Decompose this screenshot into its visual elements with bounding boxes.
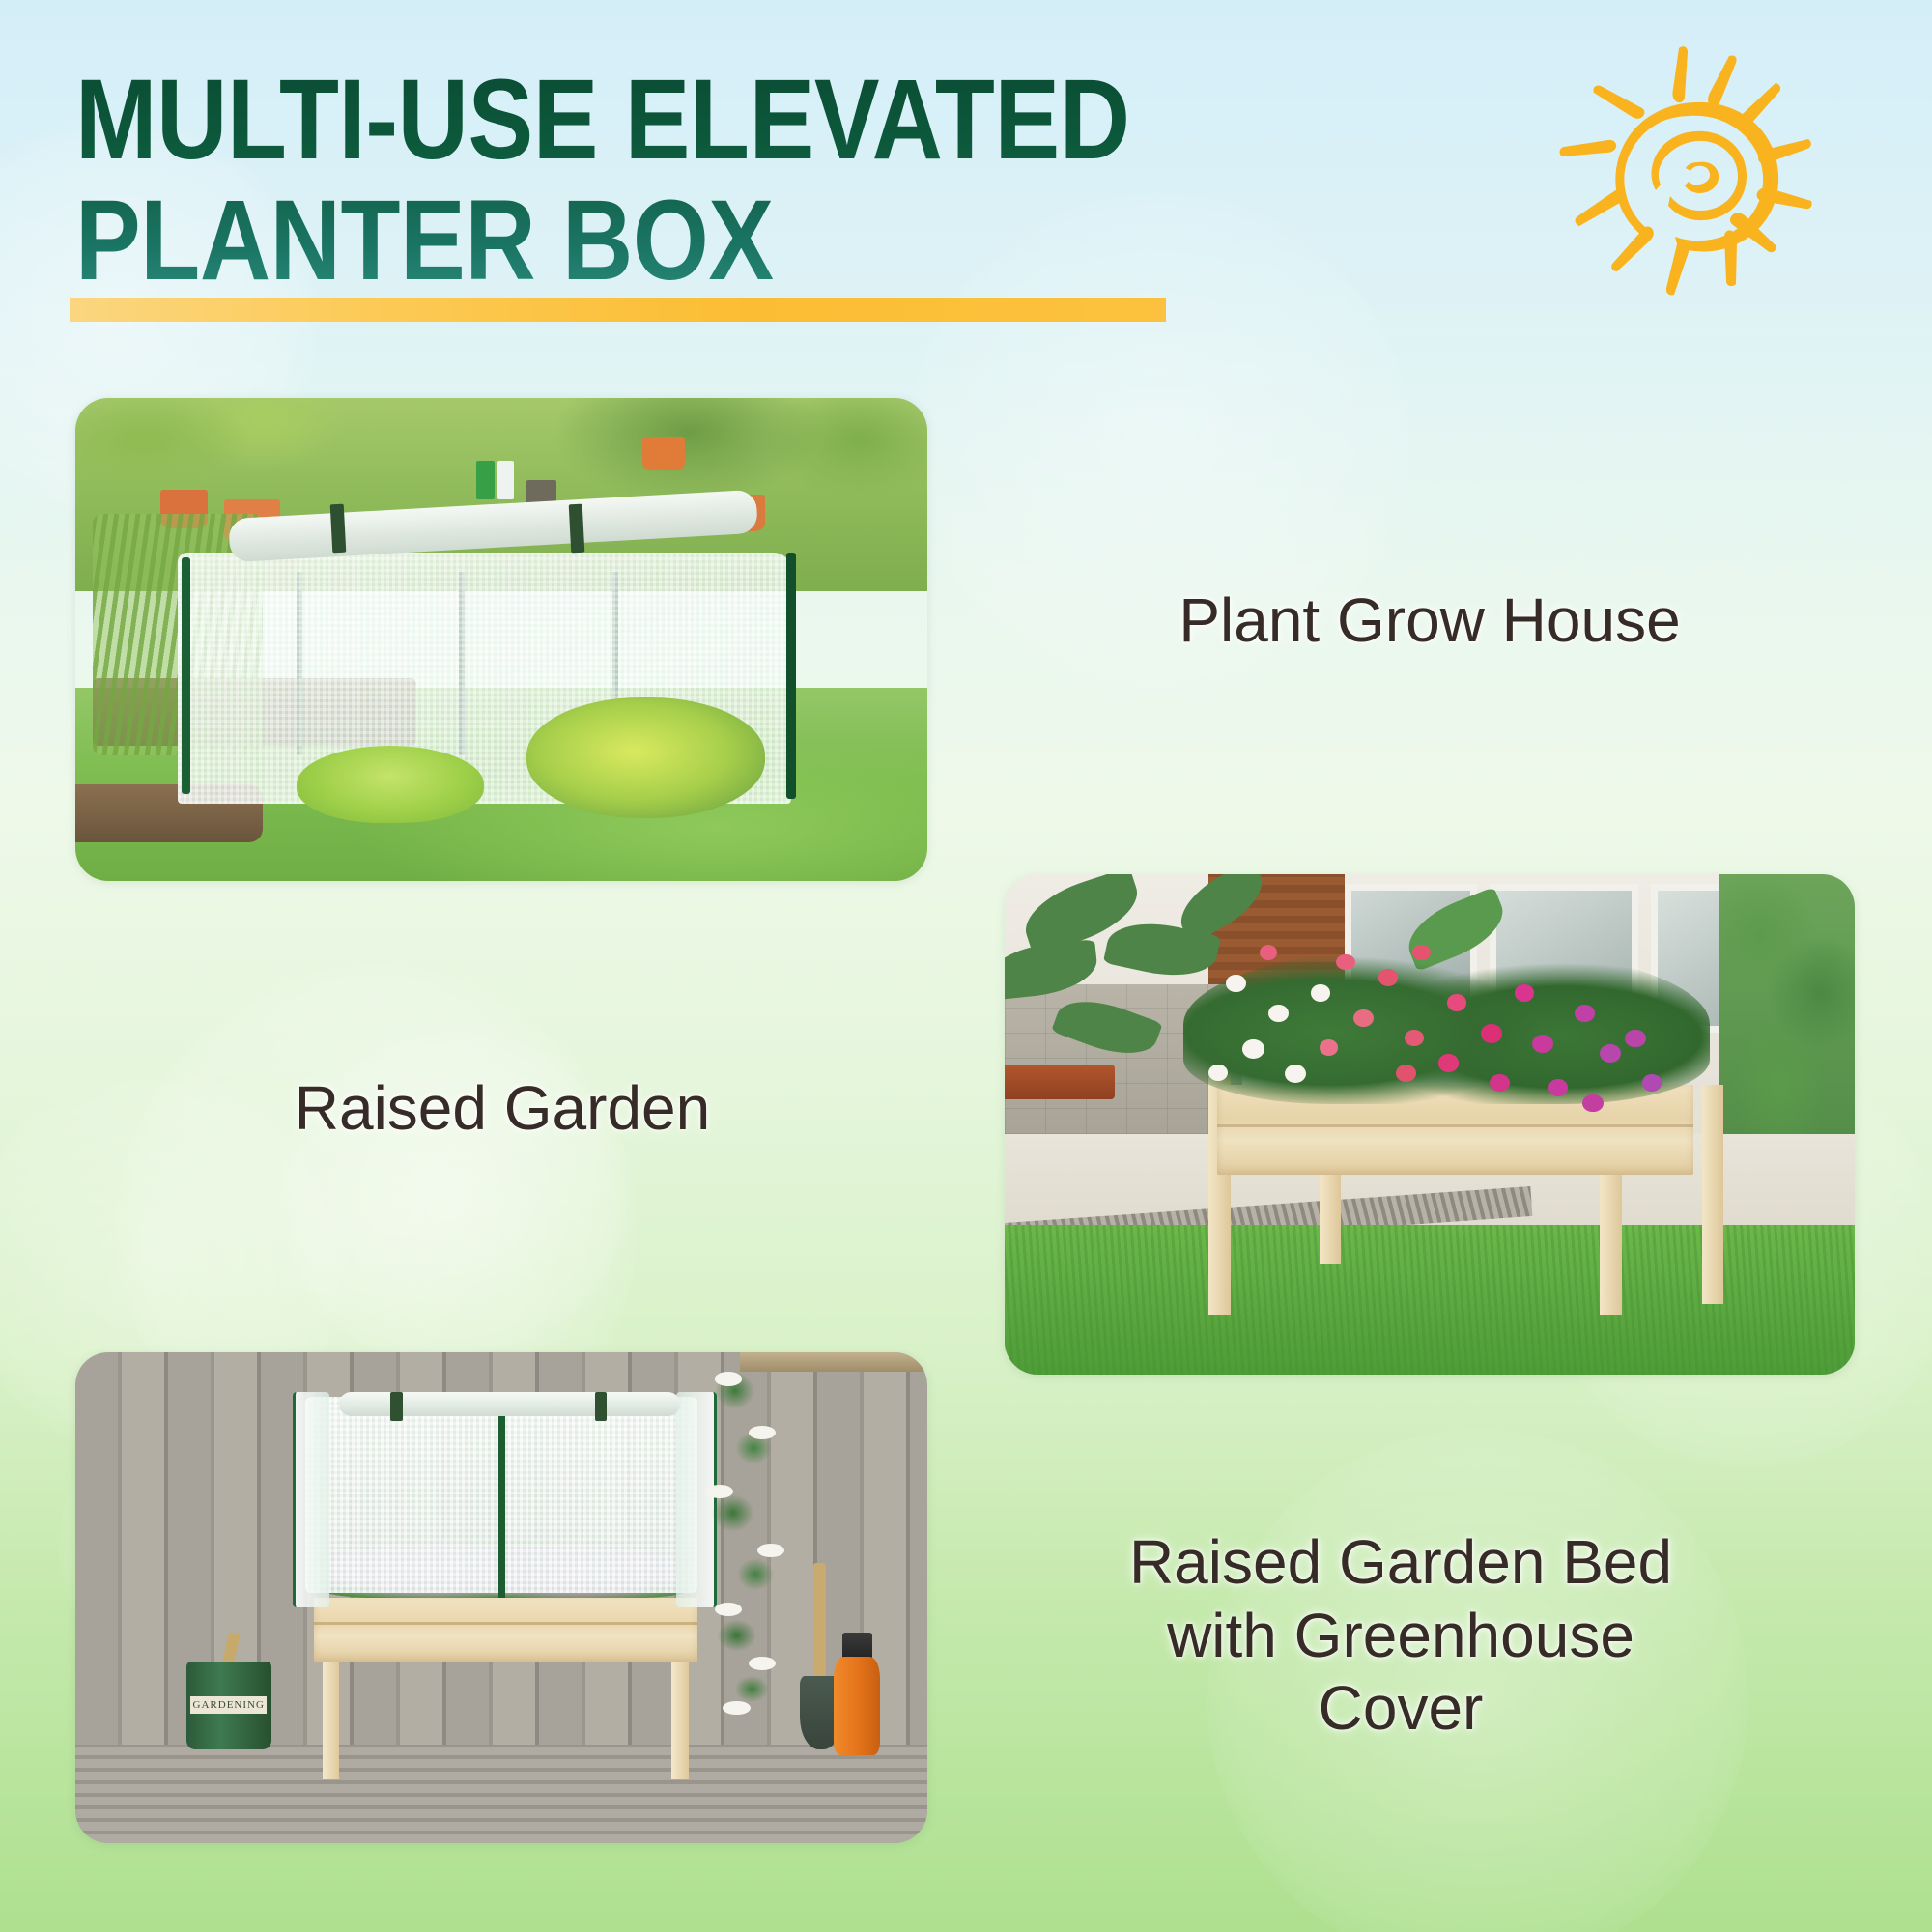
bucket-label: GARDENING [190,1696,267,1714]
photo-scene [75,398,927,881]
title-underline-bar [70,298,1166,322]
product-photo-raised-garden [1005,874,1855,1375]
caption-raised-garden-bed-with-greenhouse-cover: Raised Garden Bed with Greenhouse Cover [985,1526,1816,1746]
caption-raised-garden: Raised Garden [155,1072,850,1146]
product-photo-raised-bed-with-greenhouse-cover: GARDENING [75,1352,927,1843]
product-photo-plant-grow-house [75,398,927,881]
sun-icon [1521,21,1840,311]
page-title: MULTI-USE ELEVATED PLANTER BOX [75,60,1155,301]
photo-scene [1005,874,1855,1375]
caption-plant-grow-house: Plant Grow House [1043,584,1816,658]
product-infographic-poster: MULTI-USE ELEVATED PLANTER BOX [0,0,1932,1932]
photo-scene: GARDENING [75,1352,927,1843]
